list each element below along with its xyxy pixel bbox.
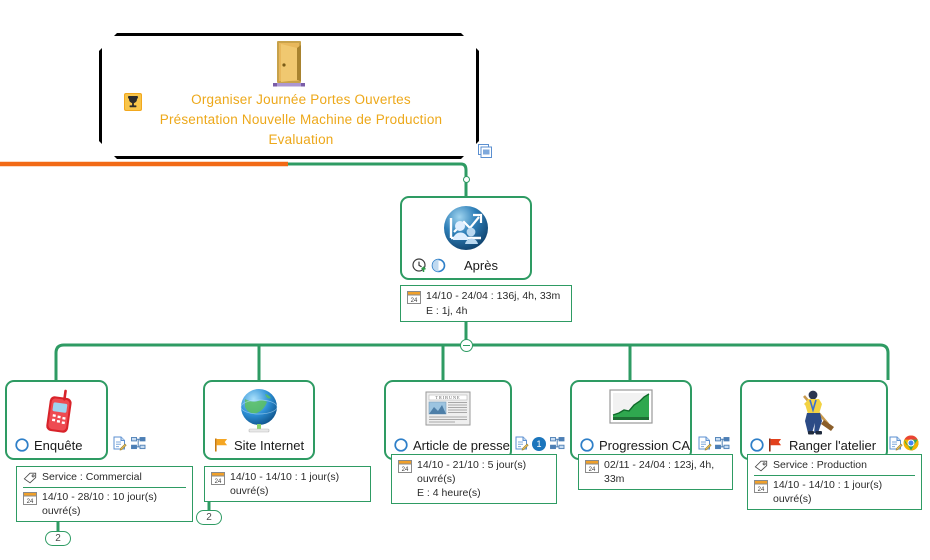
- door-icon: [268, 39, 310, 89]
- task-circle-icon: [580, 438, 594, 452]
- relation-icon[interactable]: [715, 437, 730, 450]
- mindmap-canvas: Organiser Journée Portes Ouvertes Présen…: [0, 0, 930, 560]
- svg-text:24: 24: [27, 499, 34, 505]
- root-title: Organiser Journée Portes Ouvertes Présen…: [135, 90, 467, 150]
- tag-icon: [23, 471, 37, 485]
- calendar-24-icon: 24: [585, 459, 599, 473]
- note-icon[interactable]: [112, 436, 127, 451]
- card-ranger-atelier-tag: Service : Production: [773, 458, 867, 472]
- browser-link-icon[interactable]: [903, 435, 919, 451]
- newspaper-icon: TRIBUNE: [424, 390, 472, 432]
- node-ranger-atelier[interactable]: Ranger l'atelier: [740, 380, 888, 460]
- root-node-content: Organiser Journée Portes Ouvertes Présen…: [99, 33, 479, 159]
- calendar-24-icon: 24: [23, 491, 37, 505]
- calendar-24-icon: 24: [407, 290, 421, 304]
- svg-text:24: 24: [402, 467, 409, 473]
- flag-orange-icon: [214, 438, 230, 452]
- card-apres-line2: E : 1j, 4h: [426, 304, 467, 318]
- child-bus-line: [56, 345, 888, 380]
- node-enquete[interactable]: Enquête: [5, 380, 108, 460]
- svg-text:24: 24: [411, 298, 418, 304]
- task-circle-icon: [15, 438, 29, 452]
- area-chart-icon: [608, 388, 654, 432]
- node-enquete-label: Enquête: [34, 438, 82, 453]
- sweeping-person-icon: [788, 386, 840, 436]
- svg-text:TRIBUNE: TRIBUNE: [435, 395, 460, 400]
- clock-up-icon: [412, 258, 427, 273]
- node-site-internet-label: Site Internet: [234, 438, 304, 453]
- relation-icon[interactable]: [550, 437, 565, 450]
- node-ranger-atelier-label: Ranger l'atelier: [789, 438, 876, 453]
- team-growth-icon: [440, 204, 492, 252]
- task-circle-icon: [394, 438, 408, 452]
- node-article-presse[interactable]: TRIBUNE Article de presse: [384, 380, 512, 460]
- collapse-count-enquete[interactable]: 2: [45, 531, 71, 546]
- progress-circle-icon: [431, 258, 446, 273]
- collapse-minus-icon[interactable]: [460, 339, 473, 352]
- node-progression-ca[interactable]: Progression CA: [570, 380, 692, 460]
- globe-icon: [235, 386, 283, 436]
- card-progression-ca-date: 02/11 - 24/04 : 123j, 4h, 33m: [604, 458, 726, 486]
- node-article-presse-label: Article de presse: [413, 438, 510, 453]
- card-site-internet-date: 14/10 - 14/10 : 1 jour(s) ouvré(s): [230, 470, 364, 498]
- svg-text:24: 24: [589, 467, 596, 473]
- card-ranger-atelier-date: 14/10 - 14/10 : 1 jour(s) ouvré(s): [773, 478, 915, 506]
- card-article-presse-line2: E : 4 heure(s): [417, 486, 481, 500]
- branch-drag-handle[interactable]: [463, 176, 470, 183]
- card-article-presse-line1: 14/10 - 21/10 : 5 jour(s) ouvré(s): [417, 458, 550, 486]
- task-circle-icon: [750, 438, 764, 452]
- card-divider: [754, 475, 915, 476]
- node-site-internet[interactable]: Site Internet: [203, 380, 315, 460]
- card-enquete-date: 14/10 - 28/10 : 10 jour(s) ouvré(s): [42, 490, 186, 518]
- flag-red-icon: [768, 438, 784, 452]
- card-progression-ca[interactable]: 24 02/11 - 24/04 : 123j, 4h, 33m: [578, 454, 733, 490]
- calendar-24-icon: 24: [211, 471, 225, 485]
- mobile-phone-icon: [35, 387, 79, 435]
- card-enquete[interactable]: Service : Commercial 24 14/10 - 28/10 : …: [16, 466, 193, 522]
- svg-text:24: 24: [215, 479, 222, 485]
- calendar-24-icon: 24: [398, 459, 412, 473]
- node-progression-ca-label: Progression CA: [599, 438, 690, 453]
- svg-text:24: 24: [758, 487, 765, 493]
- note-icon[interactable]: [697, 436, 712, 451]
- card-apres-line1: 14/10 - 24/04 : 136j, 4h, 33m: [426, 289, 560, 303]
- card-enquete-tag: Service : Commercial: [42, 470, 142, 484]
- trunk-green-line: [288, 164, 466, 196]
- comment-count-badge[interactable]: 1: [532, 437, 546, 451]
- card-article-presse[interactable]: 24 14/10 - 21/10 : 5 jour(s) ouvré(s) E …: [391, 454, 557, 504]
- node-apres-label: Après: [464, 258, 498, 273]
- duplicate-icon[interactable]: [478, 144, 492, 158]
- card-divider: [23, 487, 186, 488]
- tag-icon: [754, 459, 768, 473]
- card-ranger-atelier[interactable]: Service : Production 24 14/10 - 14/10 : …: [747, 454, 922, 510]
- card-apres[interactable]: 24 14/10 - 24/04 : 136j, 4h, 33m E : 1j,…: [400, 285, 572, 322]
- note-icon[interactable]: [514, 436, 529, 451]
- collapse-count-site-internet[interactable]: 2: [196, 510, 222, 525]
- note-icon[interactable]: [888, 436, 903, 451]
- relation-icon[interactable]: [131, 437, 146, 450]
- node-apres[interactable]: Après: [400, 196, 532, 280]
- calendar-24-icon: 24: [754, 479, 768, 493]
- card-site-internet[interactable]: 24 14/10 - 14/10 : 1 jour(s) ouvré(s): [204, 466, 371, 502]
